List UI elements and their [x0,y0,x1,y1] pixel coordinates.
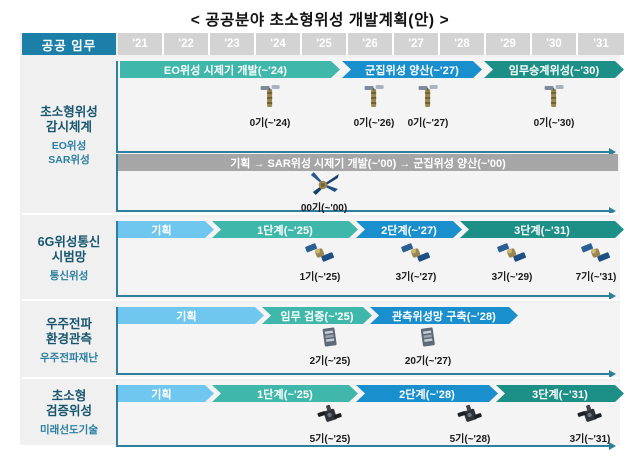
satellite-eo-icon [250,83,291,113]
section-space-radio-env: 우주전파 환경관측 우주전파재난 기획 임무 검증(~'25) 관측위성망 구축… [20,303,620,379]
verify-track-axis [116,385,118,447]
section-label-line1: 초소형 [52,389,87,404]
section-label-line2: 감시체계 [46,120,92,135]
phase-eo-prototype[interactable]: EO위성 시제기 개발(~'24) [120,61,340,78]
track-pane-verification: 기획 1단계(~'25) 2단계(~'28) 3단계(~'31) [116,381,620,445]
milestone-eo-2: 0기(~'26) [354,83,395,129]
section-label-line2: 시범망 [52,250,87,265]
section-label-line2: 검증위성 [46,404,92,419]
milestone-space-radio-1-label: 2기(~'25) [310,352,351,367]
track-pane-surveillance: EO위성 시제기 개발(~'24) 군집위성 양산(~'27) 임무승계위성(~… [116,57,620,215]
milestone-6g-2: 3기(~'27) [396,241,437,283]
track-pane-6g: 기획 1단계(~'25) 2단계(~'27) 3단계(~'31) 1기(~'25… [116,217,620,301]
phase-space-radio-network[interactable]: 관측위성망 구축(~'28) [370,307,518,324]
milestone-6g-4: 7기(~'31) [576,241,617,283]
section-label-line1: 6G위성통신 [38,235,101,250]
year-cell-31: '31 [578,33,624,55]
section-sublabel-line1: 미래선도기술 [40,424,98,437]
year-cell-27: '27 [394,33,440,55]
section-divider-3 [22,377,618,379]
phase-6g-planning[interactable]: 기획 [118,221,214,238]
milestone-6g-4-label: 7기(~'31) [576,268,617,283]
page-title: < 공공분야 초소형위성 개발계획(안) > [0,8,640,30]
section-label-micro-verification-sat: 초소형 검증위성 미래선도기술 [22,381,116,445]
section-sublabel-line2: SAR위성 [48,154,90,167]
eo-track-axis [116,61,118,153]
satellite-comm-icon [396,241,437,267]
phase-space-radio-planning[interactable]: 기획 [118,307,264,324]
eo-track-baseline [116,151,610,153]
year-cell-23: '23 [210,33,256,55]
satellite-comm-icon [300,241,341,267]
satellite-verify-icon [450,403,491,429]
section-label-space-radio-env: 우주전파 환경관측 우주전파재난 [22,303,116,379]
section-label-6g-satcom: 6G위성통신 시범망 통신위성 [22,217,116,301]
satellite-verify-icon [310,403,351,429]
phase-verify-stage3[interactable]: 3단계(~'31) [496,385,624,402]
section-micro-verification-sat: 초소형 검증위성 미래선도기술 기획 1단계(~'25) 2단계(~'28) 3… [20,381,620,445]
milestone-verify-2-label: 5기(~'28) [450,430,491,445]
satellite-cube-icon [405,325,451,351]
milestone-verify-1: 5기(~'25) [310,403,351,445]
section-label-line1: 우주전파 [46,317,92,332]
milestone-6g-1-label: 1기(~'25) [300,268,341,283]
phase-eo-constellation[interactable]: 군집위성 양산(~'27) [342,61,482,78]
roadmap-page: < 공공분야 초소형위성 개발계획(안) > 공공 임무 '21 '22 '23… [0,0,640,456]
year-cell-25: '25 [302,33,348,55]
milestone-6g-3-label: 3기(~'29) [492,268,533,283]
track-pane-space-radio: 기획 임무 검증(~'25) 관측위성망 구축(~'28) 2기(~'25) [116,303,620,379]
phase-6g-stage2[interactable]: 2단계(~'27) [356,221,462,238]
section-divider-1 [22,213,618,215]
year-cell-29: '29 [486,33,532,55]
milestone-eo-1-label: 0기(~'24) [250,114,291,129]
milestone-verify-1-label: 5기(~'25) [310,430,351,445]
milestone-6g-1: 1기(~'25) [300,241,341,283]
sar-track-baseline [116,210,610,212]
section-sublabel-line1: 우주전파재난 [40,352,98,365]
phase-6g-stage1[interactable]: 1단계(~'25) [212,221,358,238]
6g-track-baseline [116,295,610,297]
satellite-cube-icon [310,325,351,351]
milestone-verify-2: 5기(~'28) [450,403,491,445]
year-cell-21: '21 [118,33,164,55]
year-cell-24: '24 [256,33,302,55]
milestone-sar-1: 00기(~'00) [301,170,347,214]
milestone-space-radio-1: 2기(~'25) [310,325,351,367]
milestone-verify-3-label: 3기(~'31) [570,430,611,445]
satellite-sar-icon [301,170,347,198]
satellite-comm-icon [492,241,533,267]
year-cell-26: '26 [348,33,394,55]
section-sublabel-line1: 통신위성 [50,270,89,283]
roadmap-board: 공공 임무 '21 '22 '23 '24 '25 '26 '27 '28 '2… [20,33,620,445]
phase-sar-plan[interactable]: 기획 → SAR위성 시제기 개발(~'00) → 군집위성 양산(~'00) [118,154,618,171]
milestone-eo-4: 0기(~'30) [534,83,575,129]
sar-track-axis [116,154,118,212]
milestone-sar-1-label: 00기(~'00) [301,199,347,214]
header-mission-label: 공공 임무 [22,33,116,55]
section-label-line2: 환경관측 [46,332,92,347]
section-label-line1: 초소형위성 [40,105,98,120]
phase-space-radio-validation[interactable]: 임무 검증(~'25) [262,307,372,324]
milestone-eo-1: 0기(~'24) [250,83,291,129]
space-radio-track-axis [116,307,118,375]
satellite-verify-icon [570,403,611,429]
milestone-eo-3-label: 0기(~'27) [408,114,449,129]
section-label-micro-sat-surveillance: 초소형위성 감시체계 EO위성 SAR위성 [22,57,116,215]
satellite-eo-icon [408,83,449,113]
phase-verify-stage2[interactable]: 2단계(~'28) [356,385,498,402]
milestone-eo-4-label: 0기(~'30) [534,114,575,129]
satellite-eo-icon [534,83,575,113]
year-cell-22: '22 [164,33,210,55]
milestone-6g-2-label: 3기(~'27) [396,268,437,283]
verify-track-baseline [116,445,610,447]
satellite-eo-icon [354,83,395,113]
section-sublabel-line1: EO위성 [52,140,87,153]
section-6g-satcom: 6G위성통신 시범망 통신위성 기획 1단계(~'25) 2단계(~'27) 3… [20,217,620,301]
milestone-eo-2-label: 0기(~'26) [354,114,395,129]
year-cell-30: '30 [532,33,578,55]
phase-6g-stage3[interactable]: 3단계(~'31) [460,221,624,238]
phase-eo-succession[interactable]: 임무승계위성(~'30) [484,61,624,78]
section-micro-sat-surveillance: 초소형위성 감시체계 EO위성 SAR위성 EO위성 시제기 개발(~'24) … [20,57,620,215]
milestone-verify-3: 3기(~'31) [570,403,611,445]
6g-track-axis [116,221,118,297]
satellite-comm-icon [576,241,617,267]
section-divider-2 [22,299,618,301]
phase-verify-stage1[interactable]: 1단계(~'25) [212,385,358,402]
milestone-space-radio-2: 20기(~'27) [405,325,451,367]
space-radio-track-baseline [116,373,610,375]
phase-verify-planning[interactable]: 기획 [118,385,214,402]
year-header-row: 공공 임무 '21 '22 '23 '24 '25 '26 '27 '28 '2… [20,33,620,55]
milestone-space-radio-2-label: 20기(~'27) [405,352,451,367]
milestone-6g-3: 3기(~'29) [492,241,533,283]
year-cell-28: '28 [440,33,486,55]
milestone-eo-3: 0기(~'27) [408,83,449,129]
